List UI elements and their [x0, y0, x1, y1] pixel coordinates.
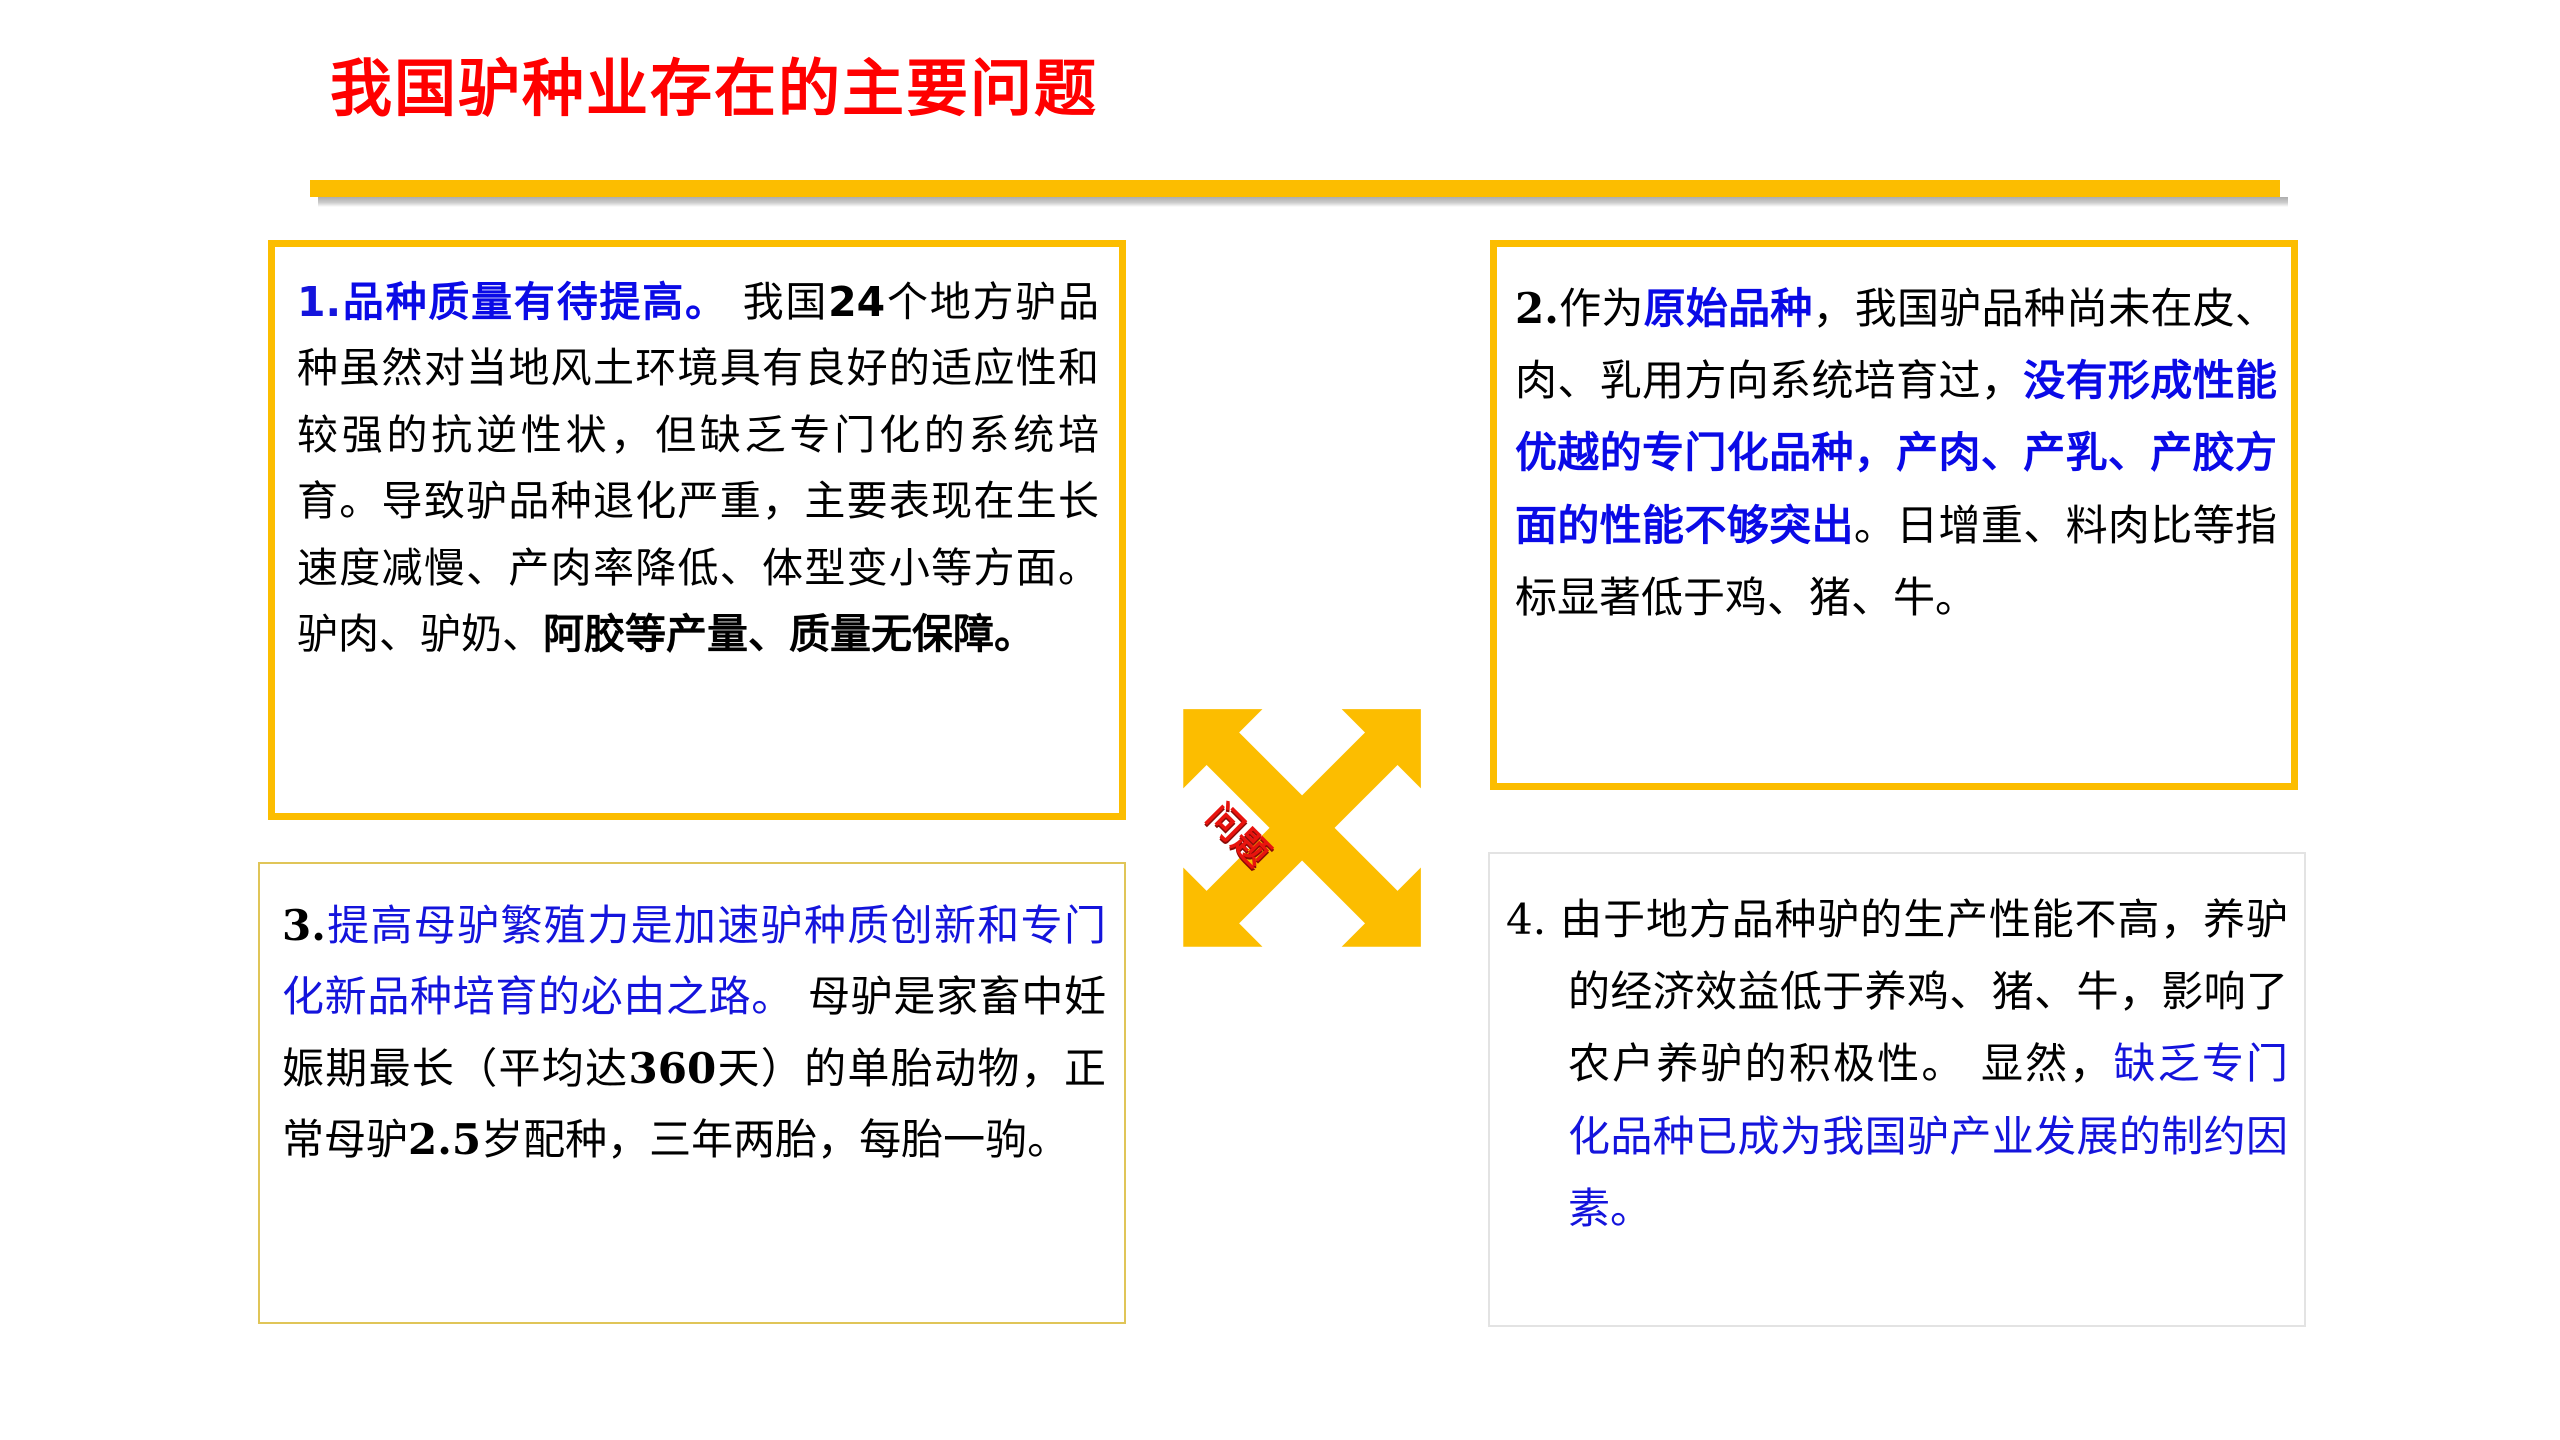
four-way-diagonal-arrow-icon — [1105, 645, 1485, 1025]
item-number-4: 4. — [1506, 895, 1560, 944]
box3-run-age: 2.5 — [408, 1115, 481, 1164]
item-number-2: 2. — [1515, 284, 1559, 333]
problem-box-3-text: 3.提高母驴繁殖力是加速驴种质创新和专门化新品种培育的必由之路。 母驴是家畜中妊… — [282, 890, 1106, 1176]
box3-run-c: 岁配种，三年两胎，每胎一驹。 — [481, 1115, 1069, 1164]
title-underline-shadow — [318, 197, 2288, 207]
title-underline-bar — [310, 180, 2280, 197]
problem-box-3[interactable]: 3.提高母驴繁殖力是加速驴种质创新和专门化新品种培育的必由之路。 母驴是家畜中妊… — [258, 862, 1126, 1324]
problem-box-1-text: 1.品种质量有待提高。 我国24个地方驴品种虽然对当地风土环境具有良好的适应性和… — [297, 269, 1099, 667]
problem-box-2-text: 2.作为原始品种，我国驴品种尚未在皮、肉、乳用方向系统培育过，没有形成性能优越的… — [1515, 273, 2277, 634]
box1-run-b: 个地方驴品种虽然对当地风土环境具有良好的适应性和较强的抗逆性状，但缺乏专门化的系… — [297, 278, 1099, 658]
problem-box-4-text: 4. 由于地方品种驴的生产性能不高，养驴的经济效益低于养鸡、猪、牛，影响了农户养… — [1506, 884, 2288, 1245]
box1-run-a: 我国 — [728, 278, 828, 326]
item-number-1: 1. — [297, 278, 341, 326]
problem-box-4[interactable]: 4. 由于地方品种驴的生产性能不高，养驴的经济效益低于养鸡、猪、牛，影响了农户养… — [1488, 852, 2306, 1327]
page-title: 我国驴种业存在的主要问题 — [330, 38, 1098, 128]
problem-box-2[interactable]: 2.作为原始品种，我国驴品种尚未在皮、肉、乳用方向系统培育过，没有形成性能优越的… — [1490, 240, 2298, 790]
box1-run-emphasis: 阿胶等产量、质量无保障。 — [543, 610, 1035, 658]
box2-run-a: 作为 — [1559, 284, 1644, 333]
problem-box-1[interactable]: 1.品种质量有待提高。 我国24个地方驴品种虽然对当地风土环境具有良好的适应性和… — [268, 240, 1126, 820]
slide-canvas: 我国驴种业存在的主要问题 1.品种质量有待提高。 我国24个地方驴品种虽然对当地… — [0, 0, 2560, 1440]
box2-run-highlight-1: 原始品种 — [1644, 284, 1813, 333]
item-number-3: 3. — [282, 901, 326, 950]
box3-run-days: 360 — [629, 1044, 717, 1093]
box1-run-highlight: 品种质量有待提高。 — [341, 278, 728, 326]
box1-run-count: 24 — [828, 278, 885, 326]
